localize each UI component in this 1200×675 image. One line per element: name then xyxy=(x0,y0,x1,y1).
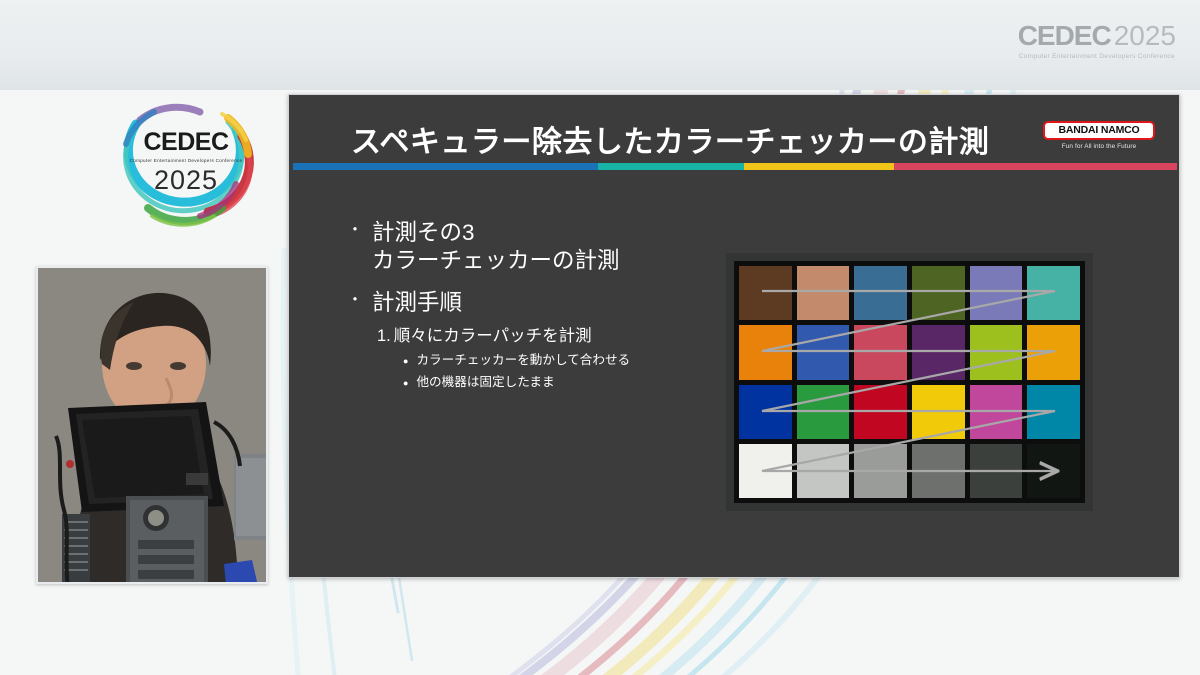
cedec-header-wordmark: CEDEC xyxy=(1018,20,1111,52)
color-patch-r2-c5 xyxy=(970,325,1023,379)
slide-body-text: ・ 計測その3 カラーチェッカーの計測 ・ 計測手順 1. 順々にカラーパッチを… xyxy=(347,219,747,396)
cedec-header-subtitle: Computer Entertainment Developers Confer… xyxy=(1018,53,1176,60)
sub-bullet-item: ● カラーチェッカーを動かして合わせる xyxy=(403,352,747,369)
color-patch-r2-c2 xyxy=(797,325,850,379)
bullet-group-1: ・ 計測その3 カラーチェッカーの計測 xyxy=(347,219,747,276)
slide-accent-bar xyxy=(293,163,1177,170)
color-patch-r3-c5 xyxy=(970,385,1023,439)
accent-bar-segment-1 xyxy=(293,163,598,170)
presentation-stage: CEDEC 2025 Computer Entertainment Develo… xyxy=(0,0,1200,675)
color-patch-r4-c3 xyxy=(854,444,907,498)
cedec-ring-wordmark: CEDEC xyxy=(143,128,228,157)
color-patch-r1-c2 xyxy=(797,266,850,320)
color-patch-r4-c5 xyxy=(970,444,1023,498)
bullet-line: カラーチェッカーの計測 xyxy=(372,247,620,275)
accent-bar-segment-4 xyxy=(894,163,1177,170)
color-checker-grid xyxy=(734,261,1085,503)
color-patch-r1-c3 xyxy=(854,266,907,320)
color-patch-r3-c6 xyxy=(1027,385,1080,439)
numbered-marker: 1. xyxy=(377,326,391,347)
presenter-video-panel xyxy=(36,266,268,584)
sub-bullet-item: ● 他の機器は固定したまま xyxy=(403,374,747,391)
color-patch-r2-c4 xyxy=(912,325,965,379)
accent-bar-segment-3 xyxy=(744,163,894,170)
color-patch-r1-c1 xyxy=(739,266,792,320)
color-patch-r4-c4 xyxy=(912,444,965,498)
bandai-namco-wordmark: BANDAI NAMCO xyxy=(1043,121,1155,140)
color-patch-r2-c3 xyxy=(854,325,907,379)
bullet-item: ・ 計測手順 xyxy=(347,289,747,317)
bandai-namco-logo: BANDAI NAMCO Fun for All into the Future xyxy=(1043,121,1155,150)
cedec-header-logo: CEDEC 2025 Computer Entertainment Develo… xyxy=(1018,20,1176,60)
color-patch-r1-c5 xyxy=(970,266,1023,320)
sub-bullet-text: 他の機器は固定したまま xyxy=(416,374,554,391)
bullet-line: 計測手順 xyxy=(372,289,462,317)
sub-bullet-dot-icon: ● xyxy=(403,377,408,389)
color-patch-r2-c1 xyxy=(739,325,792,379)
slide-title: スペキュラー除去したカラーチェッカーの計測 xyxy=(351,117,989,161)
sub-bullet-text: カラーチェッカーを動かして合わせる xyxy=(416,352,630,369)
bullet-dot-icon: ・ xyxy=(347,289,363,314)
color-patch-r3-c1 xyxy=(739,385,792,439)
cedec-ring-subtitle: Computer Entertainment Developers Confer… xyxy=(130,158,243,163)
color-patch-r4-c2 xyxy=(797,444,850,498)
numbered-text: 順々にカラーパッチを計測 xyxy=(394,326,592,347)
color-patch-r1-c4 xyxy=(912,266,965,320)
color-patch-r1-c6 xyxy=(1027,266,1080,320)
color-patch-r4-c1 xyxy=(739,444,792,498)
cedec-ring-year: 2025 xyxy=(154,165,218,196)
color-checker-figure xyxy=(726,253,1093,511)
bullet-text-lines: 計測その3 カラーチェッカーの計測 xyxy=(372,219,620,276)
cedec-ring-logo: CEDEC Computer Entertainment Developers … xyxy=(96,96,276,228)
sub-bullet-dot-icon: ● xyxy=(403,355,408,367)
color-patch-r3-c4 xyxy=(912,385,965,439)
bullet-line: 計測その3 xyxy=(372,219,620,247)
color-patch-r3-c2 xyxy=(797,385,850,439)
bandai-namco-tagline: Fun for All into the Future xyxy=(1043,143,1155,150)
accent-bar-segment-2 xyxy=(598,163,744,170)
bullet-group-2: ・ 計測手順 1. 順々にカラーパッチを計測 ● カラーチェッカーを動かして合わ… xyxy=(347,289,747,392)
bullet-item: ・ 計測その3 カラーチェッカーの計測 xyxy=(347,219,747,276)
color-patch-r4-c6 xyxy=(1027,444,1080,498)
numbered-item: 1. 順々にカラーパッチを計測 xyxy=(377,326,747,347)
color-patch-r3-c3 xyxy=(854,385,907,439)
color-patch-r2-c6 xyxy=(1027,325,1080,379)
cedec-header-year: 2025 xyxy=(1114,20,1176,52)
presentation-slide: スペキュラー除去したカラーチェッカーの計測 BANDAI NAMCO Fun f… xyxy=(288,94,1180,578)
presenter-video-frame xyxy=(38,268,268,584)
bullet-dot-icon: ・ xyxy=(347,219,363,244)
